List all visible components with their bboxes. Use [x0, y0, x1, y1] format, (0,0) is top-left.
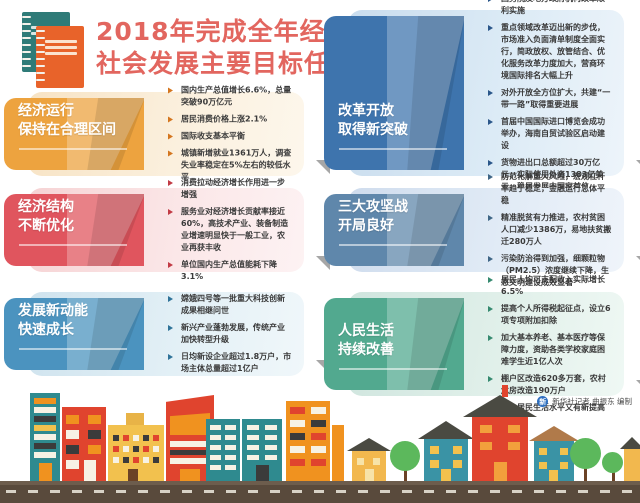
panel-tag-label: 发展新动能快速成长	[18, 302, 144, 340]
panel-tag-label-line: 三大攻坚战	[338, 198, 464, 217]
panel-tag-label-line: 保持在合理区间	[18, 121, 144, 140]
panel-tag-label-line: 取得新突破	[338, 121, 464, 140]
bullet-item: 服务业对经济增长贡献率接近60%，高技术产业、装备制造业增速明显快于一般工业，农…	[168, 206, 292, 254]
bullet-triangle-icon	[168, 354, 173, 360]
panel-tag-label-line: 改革开放	[338, 102, 464, 121]
panel-peoples-livelihood: 居民人均可支配收入实际增长6.5%提高个人所得税起征点，设立6项专项附加扣除加大…	[324, 292, 636, 396]
bullet-triangle-icon	[168, 325, 173, 331]
bullet-triangle-icon	[488, 160, 493, 166]
infographic-page: 2018年完成全年经济 社会发展主要目标任务 国内生产总值增长6.6%，总量突破…	[0, 0, 640, 503]
bullet-triangle-icon	[488, 335, 493, 341]
bullet-item: 提高个人所得税起征点，设立6项专项附加扣除	[488, 303, 612, 327]
building-tower-teal	[30, 393, 60, 481]
road-dash	[204, 490, 214, 493]
bullet-triangle-icon	[168, 209, 173, 215]
road-dash	[6, 490, 16, 493]
panel-tag-label-line: 发展新动能	[18, 302, 144, 321]
road-dash	[50, 490, 60, 493]
panel-tag-label-line: 开局良好	[338, 217, 464, 236]
bullet-text: 单位国内生产总值能耗下降3.1%	[181, 259, 292, 283]
house-right-yellow	[624, 449, 640, 481]
panel-tag-peoples-livelihood[interactable]: 人民生活持续改善	[324, 298, 464, 390]
bullet-triangle-icon	[168, 151, 173, 157]
building-block-yellow	[108, 425, 164, 481]
bullet-text: 日均新设企业超过1.8万户，市场主体总量超过1亿户	[181, 351, 292, 375]
road-dash	[116, 490, 126, 493]
tag-underline	[19, 148, 127, 150]
bullet-list-peoples-livelihood: 居民人均可支配收入实际增长6.5%提高个人所得税起征点，设立6项专项附加扣除加大…	[488, 292, 612, 396]
tag-corner-nib	[636, 256, 640, 270]
bullet-triangle-icon	[168, 262, 173, 268]
tag-fold-decoration	[387, 16, 464, 170]
panel-new-growth-drivers: 嫦娥四号等一批重大科技创新成果相继问世新兴产业蓬勃发展，传统产业加快转型升级日均…	[4, 292, 316, 376]
road-dash	[182, 490, 192, 493]
road-dash	[94, 490, 104, 493]
road-dash	[490, 490, 500, 493]
bullet-triangle-icon	[168, 180, 173, 186]
panel-tag-label-line: 快速成长	[18, 321, 144, 340]
bullet-triangle-icon	[488, 256, 493, 262]
panel-three-tough-battles: 防范化解重大风险，宏观杠杆率趋于稳定，金融运行总体平稳精准脱贫有力推进，农村贫困…	[324, 188, 636, 272]
bullet-text: 国务院及地方政府机构改革顺利实施	[501, 0, 612, 17]
building-sliver-orange	[332, 425, 344, 481]
bullet-triangle-icon	[488, 119, 493, 125]
road-dash	[512, 490, 522, 493]
road-dash	[336, 490, 346, 493]
bullet-item: 国际收支基本平衡	[168, 131, 292, 143]
panel-economic-operation: 国内生产总值增长6.6%，总量突破90万亿元居民消费价格上涨2.1%国际收支基本…	[4, 92, 316, 176]
road-dash	[380, 490, 390, 493]
bullet-text: 新兴产业蓬勃发展，传统产业加快转型升级	[181, 322, 292, 346]
building-block-red	[62, 407, 106, 481]
road-dash	[270, 490, 280, 493]
bullet-text: 消费拉动经济增长作用进一步增强	[181, 177, 292, 201]
road-dash	[578, 490, 588, 493]
bullet-triangle-icon	[488, 25, 493, 31]
tag-underline	[19, 244, 127, 246]
cityscape-illustration	[0, 393, 640, 503]
panel-tag-new-growth-drivers[interactable]: 发展新动能快速成长	[4, 298, 144, 370]
bullet-text: 国内生产总值增长6.6%，总量突破90万亿元	[181, 85, 292, 109]
bullet-triangle-icon	[488, 376, 493, 382]
bullet-list-three-tough-battles: 防范化解重大风险，宏观杠杆率趋于稳定，金融运行总体平稳精准脱贫有力推进，农村贫困…	[488, 188, 612, 272]
bullet-triangle-icon	[488, 306, 493, 312]
road-dash	[622, 490, 632, 493]
bullet-text: 国际收支基本平衡	[181, 131, 292, 143]
notebooks-illustration	[14, 10, 92, 90]
panel-tag-label: 改革开放取得新突破	[338, 102, 464, 140]
bullet-item: 居民人均可支配收入实际增长6.5%	[488, 274, 612, 298]
bullet-item: 单位国内生产总值能耗下降3.1%	[168, 259, 292, 283]
bullet-list-economic-structure: 消费拉动经济增长作用进一步增强服务业对经济增长贡献率接近60%，高技术产业、装备…	[168, 188, 292, 272]
road-dash	[424, 490, 434, 493]
bullet-item: 精准脱贫有力推进，农村贫困人口减少1386万，易地扶贫搬迁280万人	[488, 212, 612, 248]
bullet-text: 重点领域改革迈出新的步伐，市场准入负面清单制度全面实行，简政放权、放管结合、优化…	[501, 22, 612, 82]
tag-underline	[339, 368, 447, 370]
panel-tag-three-tough-battles[interactable]: 三大攻坚战开局良好	[324, 194, 464, 266]
bullet-triangle-icon	[488, 277, 493, 283]
panel-tag-label-line: 经济结构	[18, 198, 144, 217]
bullet-item: 对外开放全方位扩大，共建“一带一路”取得重要进展	[488, 87, 612, 111]
road-dash	[468, 490, 478, 493]
road-dash	[314, 490, 324, 493]
road-dash	[138, 490, 148, 493]
panel-tag-label: 经济运行保持在合理区间	[18, 102, 144, 140]
tag-underline	[339, 148, 447, 150]
house-large-red	[472, 417, 528, 481]
tag-corner-nib	[636, 380, 640, 394]
panel-tag-label-line: 人民生活	[338, 322, 464, 341]
house-small-yellow	[352, 451, 386, 481]
bullet-text: 精准脱贫有力推进，农村贫困人口减少1386万，易地扶贫搬迁280万人	[501, 212, 612, 248]
bullet-triangle-icon	[488, 90, 493, 96]
tag-underline	[339, 244, 447, 246]
bullet-triangle-icon	[168, 296, 173, 302]
bullet-item: 日均新设企业超过1.8万户，市场主体总量超过1亿户	[168, 351, 292, 375]
bullet-text: 对外开放全方位扩大，共建“一带一路”取得重要进展	[501, 87, 612, 111]
road-dash	[534, 490, 544, 493]
bullet-item: 新兴产业蓬勃发展，传统产业加快转型升级	[168, 322, 292, 346]
bullet-item: 加大基本养老、基本医疗等保障力度，资助各类学校家庭困难学生近1亿人次	[488, 332, 612, 368]
road-dash	[248, 490, 258, 493]
bullet-list-economic-operation: 国内生产总值增长6.6%，总量突破90万亿元居民消费价格上涨2.1%国际收支基本…	[168, 92, 292, 176]
bullet-text: 服务业对经济增长贡献率接近60%，高技术产业、装备制造业增速明显快于一般工业，农…	[181, 206, 292, 254]
road-dash	[556, 490, 566, 493]
panel-tag-label-line: 持续改善	[338, 341, 464, 360]
road-dash	[402, 490, 412, 493]
panel-tag-economic-operation[interactable]: 经济运行保持在合理区间	[4, 98, 144, 170]
bullet-item: 首届中国国际进口博览会成功举办，海南自贸试验区启动建设	[488, 116, 612, 152]
bullet-text: 居民消费价格上涨2.1%	[181, 114, 292, 126]
road-dash	[292, 490, 302, 493]
bullet-text: 加大基本养老、基本医疗等保障力度，资助各类学校家庭困难学生近1亿人次	[501, 332, 612, 368]
bullet-text: 居民人均可支配收入实际增长6.5%	[501, 274, 612, 298]
house-teal	[424, 439, 468, 481]
road-dash	[28, 490, 38, 493]
bullet-item: 嫦娥四号等一批重大科技创新成果相继问世	[168, 293, 292, 317]
bullet-triangle-icon	[168, 117, 173, 123]
bullet-item: 重点领域改革迈出新的步伐，市场准入负面清单制度全面实行，简政放权、放管结合、优化…	[488, 22, 612, 82]
bullet-item: 国务院及地方政府机构改革顺利实施	[488, 0, 612, 17]
bullet-item: 国内生产总值增长6.6%，总量突破90万亿元	[168, 85, 292, 109]
road-dash	[160, 490, 170, 493]
tag-underline	[19, 348, 127, 350]
bullet-triangle-icon	[488, 174, 493, 180]
bullet-text: 提高个人所得税起征点，设立6项专项附加扣除	[501, 303, 612, 327]
bullet-list-reform-opening-up: 国务院及地方政府机构改革顺利实施重点领域改革迈出新的步伐，市场准入负面清单制度全…	[488, 10, 612, 176]
bullet-triangle-icon	[168, 88, 173, 94]
bullet-triangle-icon	[488, 0, 493, 2]
road-dash	[446, 490, 456, 493]
road	[0, 481, 640, 503]
road-dash	[226, 490, 236, 493]
road-dash	[600, 490, 610, 493]
bullet-item: 防范化解重大风险，宏观杠杆率趋于稳定，金融运行总体平稳	[488, 171, 612, 207]
bullet-text: 首届中国国际进口博览会成功举办，海南自贸试验区启动建设	[501, 116, 612, 152]
panel-tag-label-line: 不断优化	[18, 217, 144, 236]
bullet-item: 居民消费价格上涨2.1%	[168, 114, 292, 126]
bullet-triangle-icon	[168, 134, 173, 140]
house-small-teal	[534, 441, 574, 481]
panel-tag-label: 经济结构不断优化	[18, 198, 144, 236]
panel-tag-label-line: 经济运行	[18, 102, 144, 121]
spiral-binding-icon	[22, 12, 32, 72]
building-tower-teal-3	[242, 419, 282, 481]
panel-tag-reform-opening-up[interactable]: 改革开放取得新突破	[324, 16, 464, 170]
bullet-text: 防范化解重大风险，宏观杠杆率趋于稳定，金融运行总体平稳	[501, 171, 612, 207]
panel-tag-label: 三大攻坚战开局良好	[338, 198, 464, 236]
building-tower-orange	[286, 401, 330, 481]
panel-tag-label: 人民生活持续改善	[338, 322, 464, 360]
tag-corner-nib	[636, 160, 640, 174]
panel-tag-economic-structure[interactable]: 经济结构不断优化	[4, 194, 144, 266]
bullet-text: 嫦娥四号等一批重大科技创新成果相继问世	[181, 293, 292, 317]
notebook-front-icon	[36, 26, 84, 88]
bullet-triangle-icon	[488, 215, 493, 221]
panel-economic-structure: 消费拉动经济增长作用进一步增强服务业对经济增长贡献率接近60%，高技术产业、装备…	[4, 188, 316, 272]
bullet-item: 消费拉动经济增长作用进一步增强	[168, 177, 292, 201]
road-dash	[72, 490, 82, 493]
panel-reform-opening-up: 国务院及地方政府机构改革顺利实施重点领域改革迈出新的步伐，市场准入负面清单制度全…	[324, 10, 636, 176]
building-tower-teal-2	[206, 419, 240, 481]
road-dash	[358, 490, 368, 493]
bullet-list-new-growth-drivers: 嫦娥四号等一批重大科技创新成果相继问世新兴产业蓬勃发展，传统产业加快转型升级日均…	[168, 292, 292, 376]
